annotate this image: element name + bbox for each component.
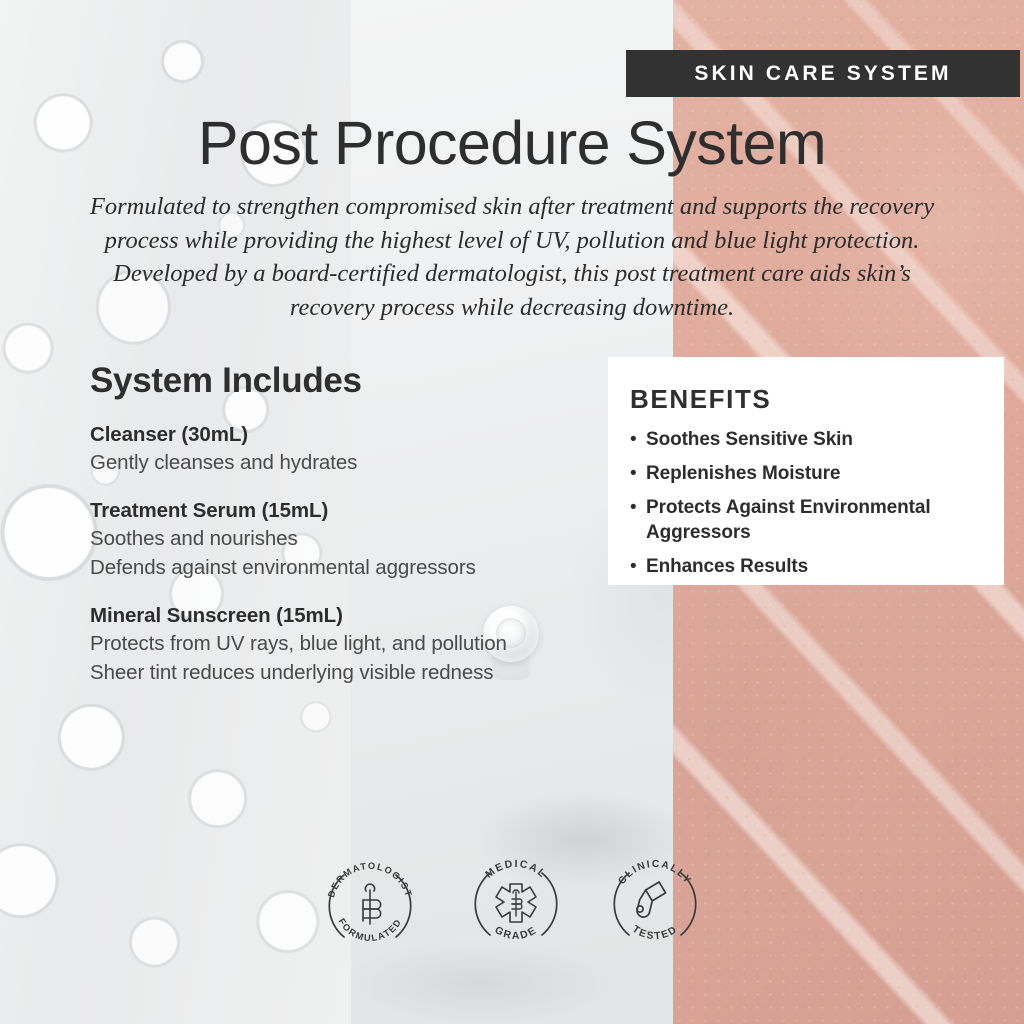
system-includes-section: System Includes Cleanser (30mL) Gently c… (90, 361, 590, 708)
bullet-icon: • (630, 461, 646, 486)
bullet-icon: • (630, 495, 646, 545)
product-item: Cleanser (30mL) Gently cleanses and hydr… (90, 422, 590, 477)
page-title: Post Procedure System (0, 113, 1024, 174)
trust-badge-clinically-tested: CLINICALLY TESTED (607, 856, 703, 952)
bullet-icon: • (630, 427, 646, 452)
svg-text:GRADE: GRADE (493, 924, 540, 942)
benefit-item: • Enhances Results (630, 554, 1004, 579)
svg-text:CLINICALLY: CLINICALLY (617, 859, 694, 887)
poster-canvas: SKIN CARE SYSTEM Post Procedure System F… (0, 0, 1024, 1024)
product-description: Gently cleanses and hydrates (90, 448, 590, 477)
trust-badge-dermatologist-formulated: DERMATOLOGIST FORMULATED (322, 858, 418, 954)
product-description: Soothes and nourishesDefends against env… (90, 524, 590, 582)
benefits-heading: BENEFITS (630, 384, 1004, 415)
product-item: Treatment Serum (15mL) Soothes and nouri… (90, 498, 590, 582)
benefit-item: • Replenishes Moisture (630, 461, 1004, 486)
test-tube-icon (636, 878, 668, 921)
caduceus-icon (363, 884, 381, 924)
skin-care-system-badge-label: SKIN CARE SYSTEM (694, 62, 951, 86)
trust-badge-top-text: MEDICAL (483, 858, 549, 881)
benefit-text: Protects Against Environmental Aggressor… (646, 495, 1004, 545)
benefit-item: • Soothes Sensitive Skin (630, 427, 1004, 452)
trust-badge-top-text: CLINICALLY (617, 859, 694, 887)
intro-paragraph: Formulated to strengthen compromised ski… (72, 190, 952, 324)
product-name: Cleanser (30mL) (90, 422, 590, 448)
product-item: Mineral Sunscreen (15mL) Protects from U… (90, 603, 590, 687)
skin-care-system-badge: SKIN CARE SYSTEM (626, 50, 1020, 97)
benefit-text: Soothes Sensitive Skin (646, 427, 853, 452)
benefit-item: • Protects Against Environmental Aggress… (630, 495, 1004, 545)
product-description: Protects from UV rays, blue light, and p… (90, 629, 590, 687)
trust-badge-medical-grade: MEDICAL GRADE (468, 856, 564, 952)
trust-badge-bottom-text: TESTED (630, 924, 680, 942)
star-of-life-icon (496, 884, 536, 922)
system-includes-heading: System Includes (90, 361, 590, 401)
benefits-card: BENEFITS • Soothes Sensitive Skin • Repl… (608, 357, 1004, 585)
bullet-icon: • (630, 554, 646, 579)
svg-text:MEDICAL: MEDICAL (483, 858, 549, 881)
product-name: Mineral Sunscreen (15mL) (90, 603, 590, 629)
benefit-text: Enhances Results (646, 554, 808, 579)
product-name: Treatment Serum (15mL) (90, 498, 590, 524)
svg-text:TESTED: TESTED (630, 924, 680, 942)
benefit-text: Replenishes Moisture (646, 461, 840, 486)
trust-badge-bottom-text: GRADE (493, 924, 540, 942)
